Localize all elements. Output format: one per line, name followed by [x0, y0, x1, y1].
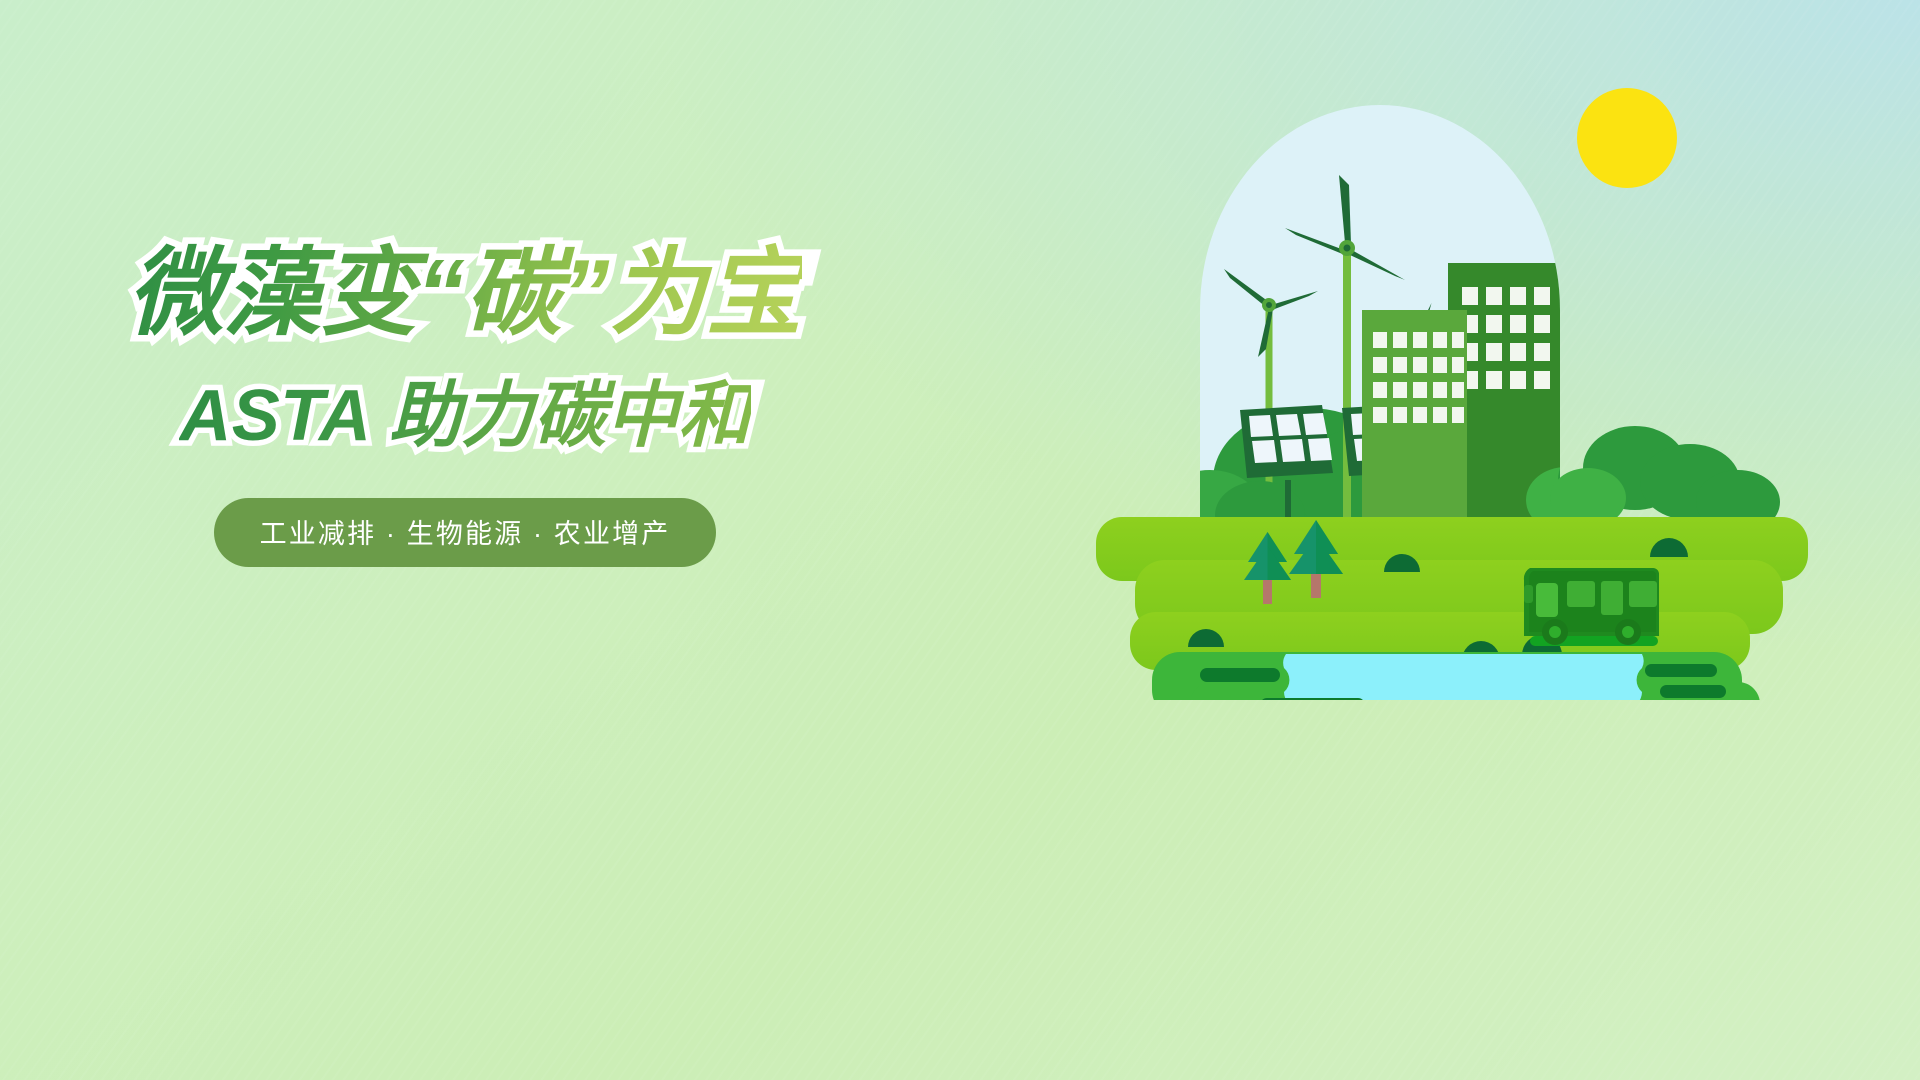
hero-text-block: 微藻变“碳”为宝 微藻变“碳”为宝 ASTA 助力碳中和 ASTA 助力碳中和 … — [0, 246, 930, 567]
status-badge: 工业减排 · 生物能源 · 农业增产 — [214, 498, 717, 567]
building-short — [1362, 310, 1467, 531]
page-title: 微藻变“碳”为宝 微藻变“碳”为宝 — [0, 246, 930, 350]
page-subtitle: ASTA 助力碳中和 ASTA 助力碳中和 — [0, 380, 930, 466]
eco-city-illustration — [1090, 60, 1850, 700]
page-subtitle-fill: ASTA 助力碳中和 — [179, 376, 750, 456]
badge-row: 工业减排 · 生物能源 · 农业增产 — [0, 498, 930, 567]
pond — [1283, 654, 1643, 700]
sun-icon — [1577, 88, 1677, 188]
page-title-fill: 微藻变“碳”为宝 — [128, 240, 803, 347]
bus-icon — [1524, 568, 1659, 646]
land — [1096, 517, 1808, 670]
